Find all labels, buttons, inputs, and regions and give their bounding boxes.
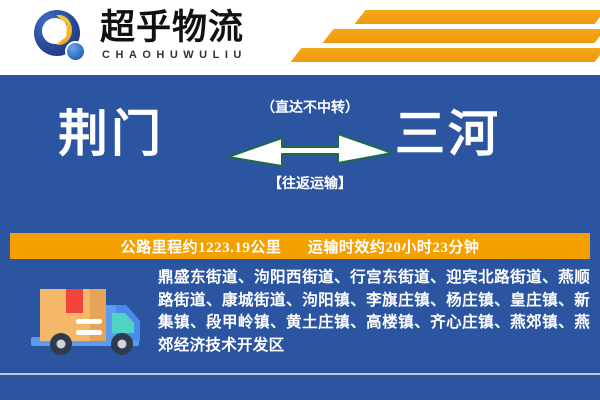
origin-city: 荆门 (58, 105, 164, 163)
orange-speed-stripes-icon (270, 6, 600, 68)
bidirectional-arrow-icon (226, 123, 394, 169)
stripe-2 (323, 29, 600, 43)
logistics-route-poster: 超乎物流 CHAOHUWULIU 荆门 （直达不中转） 【往返运输】 三河 (0, 0, 600, 400)
destination-city: 三河 (395, 105, 501, 163)
route-row: 荆门 （直达不中转） 【往返运输】 三河 (0, 75, 600, 227)
stripe-3 (291, 48, 600, 62)
delivery-truck-icon (28, 275, 146, 361)
distance-text: 公路里程约1223.19公里 (121, 240, 282, 256)
duration-text: 运输时效约20小时23分钟 (308, 240, 480, 256)
infobar-content: 公路里程约1223.19公里 运输时效约20小时23分钟 (121, 236, 480, 257)
logo-dot-icon (65, 41, 86, 62)
coverage-row: 鼎盛东街道、泃阳西街道、行宫东街道、迎宾北路街道、燕顺路街道、康城街道、泃阳镇、… (0, 267, 600, 377)
brand-name-cn: 超乎物流 (100, 9, 244, 47)
bottom-divider (0, 373, 600, 375)
poster-header: 超乎物流 CHAOHUWULIU (0, 0, 600, 75)
company-logo (32, 8, 92, 66)
brand-name-en: CHAOHUWULIU (102, 49, 247, 61)
coverage-areas-text: 鼎盛东街道、泃阳西街道、行宫东街道、迎宾北路街道、燕顺路街道、康城街道、泃阳镇、… (158, 267, 590, 357)
round-trip-tag: 【往返运输】 (240, 173, 380, 193)
main-blue-panel: 荆门 （直达不中转） 【往返运输】 三河 公路里程约1223.19公里 运输时效… (0, 75, 600, 400)
stripe-1 (355, 10, 600, 24)
direct-shipping-tag: （直达不中转） (240, 97, 380, 117)
route-arrow-block: （直达不中转） 【往返运输】 (240, 97, 380, 215)
distance-duration-bar: 公路里程约1223.19公里 运输时效约20小时23分钟 (10, 233, 590, 259)
